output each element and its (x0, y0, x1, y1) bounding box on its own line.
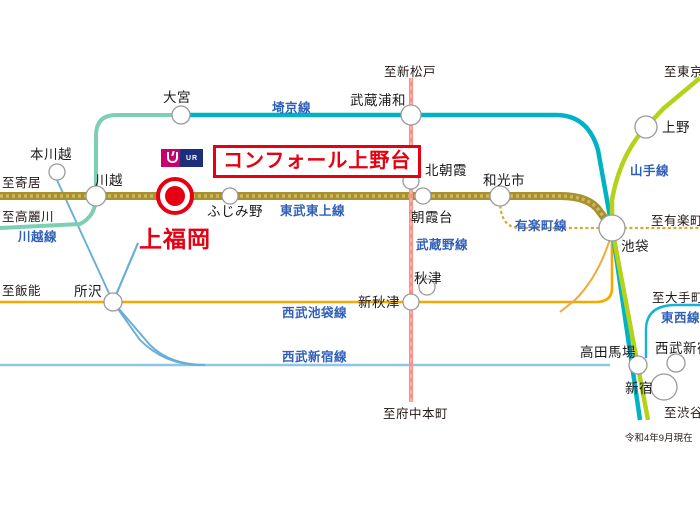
home-station-marker[interactable] (158, 179, 192, 213)
terminal-label-shinmatsudo: 至新松戸 (384, 66, 436, 79)
station-label-ikebukuro: 池袋 (621, 240, 649, 254)
station-label-musashiurawa: 武蔵浦和 (350, 94, 406, 108)
line-label-tozai: 東西線 (661, 312, 700, 325)
station-marker[interactable] (222, 188, 238, 204)
station-label-shinakitsu: 新秋津 (358, 296, 400, 310)
home-station-label: 上福岡 (139, 228, 211, 251)
station-label-omiya: 大宮 (163, 91, 191, 105)
station-label-asakadai: 朝霞台 (411, 211, 453, 225)
ur-logo-badge: UR (161, 149, 203, 167)
station-label-takadanobaba: 高田馬場 (580, 346, 636, 360)
station-marker[interactable] (401, 105, 421, 125)
station-marker[interactable] (104, 293, 122, 311)
station-label-fujimino: ふじみ野 (207, 205, 263, 219)
station-label-tokorozawa: 所沢 (74, 285, 102, 299)
terminal-label-yorii: 至寄居 (2, 177, 41, 190)
station-label-shinjuku: 新宿 (625, 382, 653, 396)
line-seibu-branch (97, 195, 205, 365)
station-label-akitsu: 秋津 (414, 272, 442, 286)
line-label-tobu-tojo: 東武東上線 (280, 205, 345, 218)
date-stamp: 令和4年9月現在 (625, 434, 693, 444)
station-label-kitaasaka: 北朝霞 (425, 164, 467, 178)
ur-logo-icon (161, 149, 180, 167)
callout-label: コンフォール上野台 (223, 150, 411, 172)
station-label-honkawagoe: 本川越 (30, 148, 72, 162)
line-label-musashino: 武蔵野線 (416, 239, 468, 252)
terminal-label-fuchuhonmachi: 至府中本町 (383, 408, 448, 421)
terminal-label-yurakucho: 至有楽町 (651, 215, 700, 228)
terminal-label-tokyo: 至東京 (664, 66, 700, 79)
terminal-label-komagawa: 至高麗川 (2, 211, 54, 224)
line-label-kawagoe: 川越線 (18, 231, 57, 244)
station-marker[interactable] (667, 354, 685, 372)
station-marker[interactable] (86, 186, 106, 206)
line-label-yamanote: 山手線 (630, 165, 669, 178)
station-marker[interactable] (403, 294, 419, 310)
route-map: コンフォール上野台 UR 上福岡 大宮 本川越 川越 ふじみ野 武蔵浦和 北朝霞… (0, 0, 700, 525)
station-marker[interactable] (490, 186, 510, 206)
station-marker[interactable] (172, 106, 190, 124)
route-map-canvas (0, 0, 700, 525)
station-marker[interactable] (599, 215, 625, 241)
line-label-seibu-ikebukuro: 西武池袋線 (282, 307, 347, 320)
station-marker[interactable] (651, 374, 677, 400)
terminal-label-otemachi: 至大手町 (652, 292, 700, 305)
station-marker[interactable] (49, 164, 65, 180)
station-label-wakoshi: 和光市 (483, 174, 525, 188)
station-label-kawagoe: 川越 (95, 174, 123, 188)
station-marker[interactable] (635, 116, 657, 138)
ur-badge-text: UR (180, 155, 198, 162)
line-label-seibu-shinjuku: 西武新宿線 (282, 351, 347, 364)
station-marker[interactable] (415, 188, 431, 204)
terminal-label-hanno: 至飯能 (2, 285, 41, 298)
station-label-seibushinjuku: 西武新宿 (655, 342, 700, 356)
line-label-yurakucho: 有楽町線 (515, 220, 567, 233)
terminal-label-shibuya: 至渋谷 (664, 407, 700, 420)
station-label-ueno: 上野 (662, 121, 690, 135)
callout-box: コンフォール上野台 (213, 145, 421, 178)
line-label-saikyo: 埼京線 (272, 102, 311, 115)
